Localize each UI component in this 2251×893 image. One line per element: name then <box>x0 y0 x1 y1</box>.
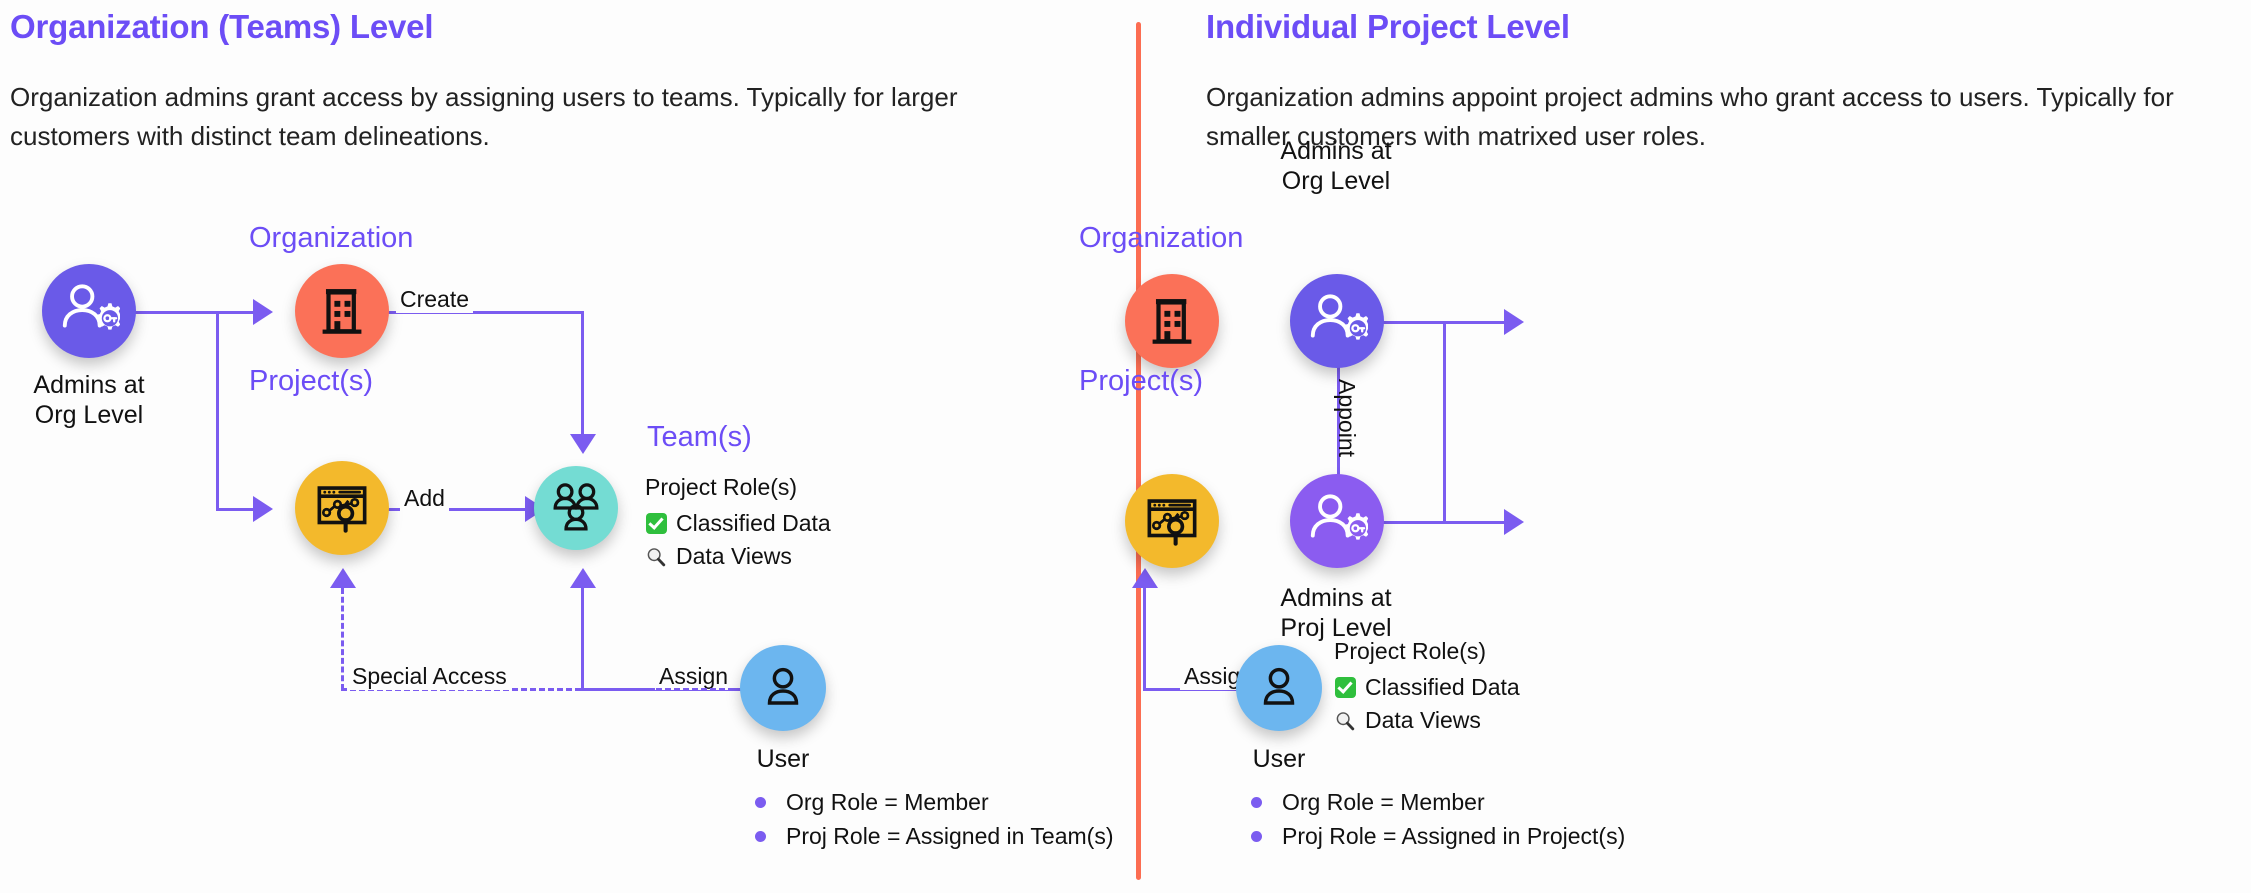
roles-block-team: Project Role(s) Classified Data Data Vie… <box>645 474 831 570</box>
node-project[interactable] <box>295 461 389 555</box>
bullet-label: Org Role = Member <box>1282 789 1485 816</box>
node-caption-user: User <box>694 744 872 774</box>
edge-label-special-access: Special Access <box>348 663 511 690</box>
edge-admin-to-project <box>216 508 254 511</box>
node-user-right[interactable] <box>1236 645 1322 731</box>
arrowhead-org-right <box>1504 309 1524 335</box>
bullet-dot-icon <box>755 797 766 808</box>
node-team[interactable] <box>534 466 618 550</box>
node-user[interactable] <box>740 645 826 731</box>
node-caption-admins-org-level-right: Admins at Org Level <box>1247 136 1425 196</box>
user-bullets-right: Org Role = Member Proj Role = Assigned i… <box>1251 782 1625 850</box>
edge-bridge-v <box>1443 321 1446 521</box>
building-icon <box>315 284 369 338</box>
arrowhead-project-bottom <box>330 568 356 588</box>
node-label-team: Team(s) <box>647 421 752 454</box>
node-label-project: Project(s) <box>249 365 373 398</box>
node-caption-admins-org-level: Admins at Org Level <box>0 370 178 430</box>
role-item-data-views: Data Views <box>1334 707 1520 734</box>
node-label-project-right: Project(s) <box>1079 365 1203 398</box>
individual-project-level-panel: Individual Project Level Organization ad… <box>1138 0 2251 893</box>
role-label: Classified Data <box>1365 674 1520 701</box>
node-caption-admins-proj-level: Admins at Proj Level <box>1246 583 1426 643</box>
role-label: Classified Data <box>676 510 831 537</box>
organization-teams-level-panel: Organization (Teams) Level Organization … <box>0 0 1138 893</box>
role-item-data-views: Data Views <box>645 543 831 570</box>
node-caption-user-right: User <box>1190 744 1368 774</box>
list-item: Org Role = Member <box>755 789 1113 816</box>
green-check-icon <box>645 513 667 535</box>
arrowhead-org <box>253 299 273 325</box>
admin-key-icon <box>58 280 120 342</box>
magnifier-icon <box>645 546 667 568</box>
user-bullets-left: Org Role = Member Proj Role = Assigned i… <box>755 782 1113 850</box>
bullet-dot-icon <box>1251 831 1262 842</box>
bullet-label: Proj Role = Assigned in Team(s) <box>786 823 1113 850</box>
node-admins-org-level[interactable] <box>42 264 136 358</box>
list-item: Org Role = Member <box>1251 789 1625 816</box>
edge-label-assign: Assign <box>655 663 732 690</box>
arrowhead-project-right <box>1504 509 1524 535</box>
node-project-right[interactable] <box>1125 474 1219 568</box>
edge-label-add: Add <box>400 485 449 512</box>
node-admins-org-level-right[interactable] <box>1290 274 1384 368</box>
role-label: Data Views <box>1365 707 1481 734</box>
node-label-organization: Organization <box>249 222 413 255</box>
admin-key-icon <box>1306 490 1368 552</box>
edge-special-access-v <box>341 588 344 690</box>
edge-label-create: Create <box>396 286 473 313</box>
list-item: Proj Role = Assigned in Project(s) <box>1251 823 1625 850</box>
person-icon <box>759 664 807 712</box>
project-dashboard-icon <box>313 479 371 537</box>
edge-admin-down <box>216 311 219 511</box>
building-icon <box>1145 294 1199 348</box>
arrowhead-team-top <box>570 434 596 454</box>
arrowhead-project <box>253 496 273 522</box>
arrowhead-team-bottom <box>570 568 596 588</box>
node-organization-right[interactable] <box>1125 274 1219 368</box>
node-organization[interactable] <box>295 264 389 358</box>
project-dashboard-icon <box>1143 492 1201 550</box>
bullet-label: Org Role = Member <box>786 789 989 816</box>
edge-assign-v <box>581 588 584 690</box>
bullet-dot-icon <box>1251 797 1262 808</box>
roles-title: Project Role(s) <box>1334 638 1520 665</box>
list-item: Proj Role = Assigned in Team(s) <box>755 823 1113 850</box>
page-title-left: Organization (Teams) Level <box>10 8 433 46</box>
magnifier-icon <box>1334 710 1356 732</box>
three-people-icon <box>547 479 605 537</box>
diagram-canvas: Organization (Teams) Level Organization … <box>0 0 2251 893</box>
role-label: Data Views <box>676 543 792 570</box>
role-item-classified-data: Classified Data <box>645 510 831 537</box>
edge-create-v <box>581 311 584 436</box>
edge-assign-v-right <box>1143 588 1146 690</box>
roles-block-user-right: Project Role(s) Classified Data Data Vie… <box>1334 638 1520 734</box>
arrowhead-project-bottom-right <box>1132 568 1158 588</box>
bullet-label: Proj Role = Assigned in Project(s) <box>1282 823 1625 850</box>
green-check-icon <box>1334 677 1356 699</box>
edge-label-appoint: Appoint <box>1333 375 1360 461</box>
panel-description-left: Organization admins grant access by assi… <box>10 78 1050 156</box>
page-title-right: Individual Project Level <box>1206 8 1570 46</box>
roles-title: Project Role(s) <box>645 474 831 501</box>
bullet-dot-icon <box>755 831 766 842</box>
admin-key-icon <box>1306 290 1368 352</box>
node-admins-proj-level[interactable] <box>1290 474 1384 568</box>
role-item-classified-data: Classified Data <box>1334 674 1520 701</box>
person-icon <box>1255 664 1303 712</box>
node-label-organization-right: Organization <box>1079 222 1243 255</box>
